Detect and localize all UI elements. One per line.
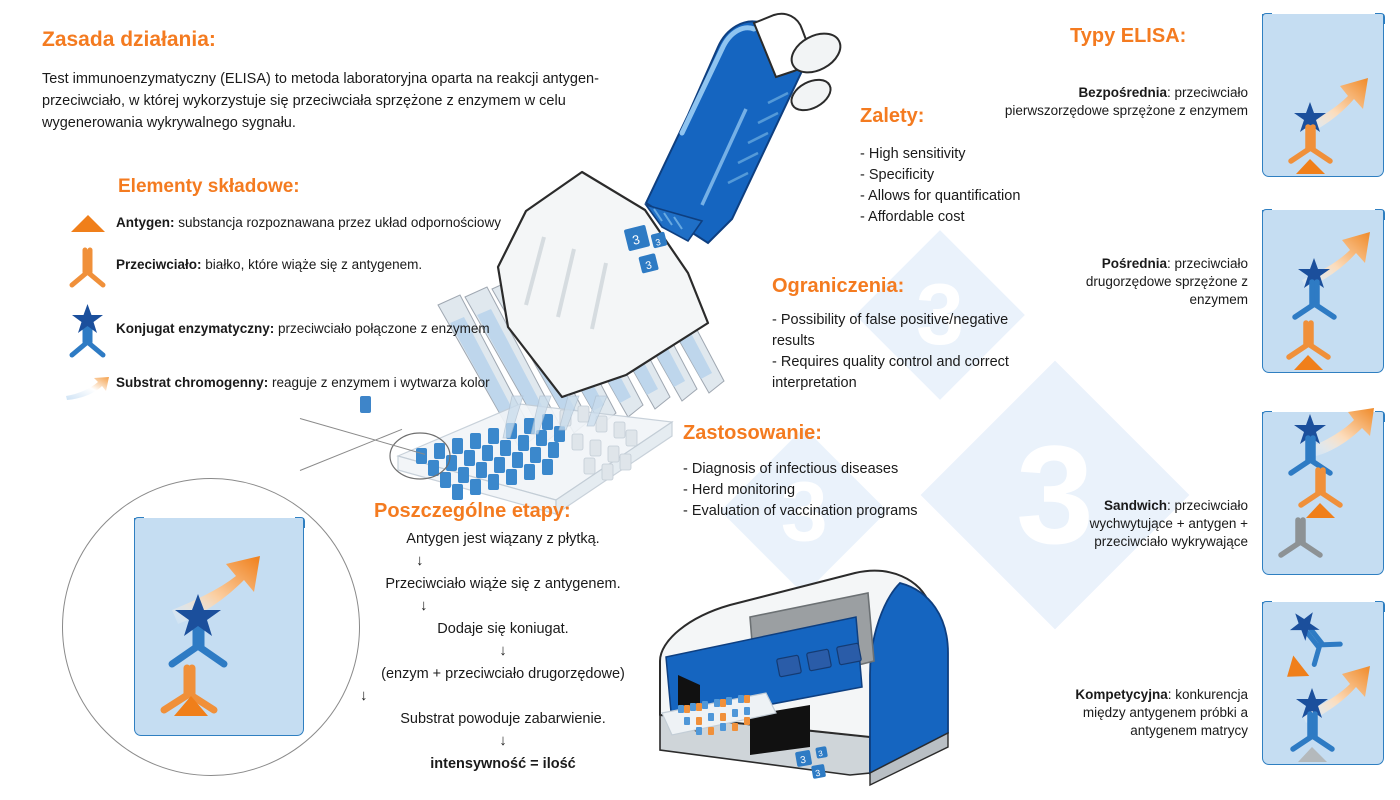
antigen-triangle [1279, 655, 1309, 687]
step-item: (enzym + przeciwciało drugorzędowe) [358, 665, 648, 684]
list-item: - Affordable cost [860, 207, 1090, 228]
components-heading: Elementy składowe: [118, 176, 510, 198]
type-direct-text: Bezpośrednia: przeciwciało pierwszorzędo… [1000, 84, 1248, 120]
list-item: Antygen: substancja rozpoznawana przez u… [60, 212, 510, 234]
panel-sandwich-elisa [1262, 412, 1384, 575]
chromogenic-substrate-icon [60, 374, 116, 402]
list-item-text: Konjugat enzymatyczny: przeciwciało połą… [116, 302, 490, 338]
list-item: - Allows for quantification [860, 186, 1090, 207]
type-sandwich-text: Sandwich: przeciwciało wychwytujące + an… [1080, 497, 1248, 551]
elisa-reader-illustration: 3 3 3 [600, 565, 1000, 795]
limitations-section: Ograniczenia: - Possibility of false pos… [772, 275, 1017, 394]
types-heading: Typy ELISA: [1070, 25, 1186, 48]
list-item: - Herd monitoring [683, 480, 1003, 501]
matrix-antigen-triangle [1298, 747, 1327, 762]
principle-heading: Zasada działania: [42, 28, 662, 52]
step-arrow-icon: ↓ [358, 734, 648, 748]
type-term: Kompetycyjna [1075, 687, 1167, 702]
list-item: - Specificity [860, 165, 1090, 186]
component-term: Substrat chromogenny: [116, 375, 268, 390]
limitations-heading: Ograniczenia: [772, 275, 1017, 298]
step-item: Przeciwciało wiąże się z antygenem. [358, 575, 648, 594]
advantages-list: - High sensitivity - Specificity - Allow… [860, 144, 1090, 228]
step-item: Substrat powoduje zabarwienie. [358, 710, 648, 729]
antigen-triangle [1306, 503, 1335, 518]
step-arrow-icon: ↓ [358, 599, 648, 613]
panel-competitive-elisa [1262, 602, 1384, 765]
list-item: - High sensitivity [860, 144, 1090, 165]
step-item: Antygen jest wiązany z płytką. [358, 530, 648, 549]
panel-direct-elisa [1262, 14, 1384, 177]
magnified-well-illustration [134, 518, 304, 736]
list-item: Przeciwciało: białko, które wiąże się z … [60, 244, 510, 290]
type-term: Pośrednia [1102, 256, 1167, 271]
types-section-title: Typy ELISA: [1070, 25, 1186, 48]
component-term: Antygen: [116, 215, 175, 230]
step-item-final: intensywność = ilość [358, 755, 648, 774]
applications-section: Zastosowanie: - Diagnosis of infectious … [683, 422, 1003, 522]
step-arrow-icon: ↓ [358, 554, 648, 568]
steps-heading: Poszczególne etapy: [374, 500, 648, 523]
steps-section: Poszczególne etapy: Antygen jest wiązany… [358, 500, 648, 774]
type-competitive-text: Kompetycyjna: konkurencja między antygen… [1060, 686, 1248, 740]
list-item: - Possibility of false positive/negative… [772, 310, 1017, 352]
advantages-section: Zalety: - High sensitivity - Specificity… [860, 105, 1090, 228]
antigen-triangle-icon [60, 212, 116, 234]
antibody-orange-icon [60, 244, 116, 290]
principle-text: Test immunoenzymatyczny (ELISA) to metod… [42, 68, 662, 134]
principle-section: Zasada działania: Test immunoenzymatyczn… [42, 28, 662, 134]
limitations-list: - Possibility of false positive/negative… [772, 310, 1017, 394]
component-term: Konjugat enzymatyczny: [116, 321, 274, 336]
type-term: Sandwich [1104, 498, 1167, 513]
components-section: Elementy składowe: Antygen: substancja r… [60, 176, 510, 402]
component-desc: białko, które wiąże się z antygenem. [202, 257, 423, 272]
list-item: Substrat chromogenny: reaguje z enzymem … [60, 374, 510, 402]
component-desc: przeciwciało połączone z enzymem [274, 321, 489, 336]
list-item: - Evaluation of vaccination programs [683, 501, 1003, 522]
list-item-text: Antygen: substancja rozpoznawana przez u… [116, 212, 501, 232]
enzyme-conjugate-icon [60, 302, 116, 360]
type-indirect-text: Pośrednia: przeciwciało drugorzędowe spr… [1060, 255, 1248, 309]
list-item: Konjugat enzymatyczny: przeciwciało połą… [60, 302, 510, 360]
step-arrow-icon: ↓ [358, 689, 648, 703]
component-desc: reaguje z enzymem i wytwarza kolor [268, 375, 489, 390]
step-arrow-icon: ↓ [358, 644, 648, 658]
type-term: Bezpośrednia [1078, 85, 1167, 100]
list-item: - Requires quality control and correct i… [772, 352, 1017, 394]
applications-list: - Diagnosis of infectious diseases - Her… [683, 459, 1003, 522]
step-item: Dodaje się koniugat. [358, 620, 648, 639]
list-item: - Diagnosis of infectious diseases [683, 459, 1003, 480]
antigen-triangle [1294, 355, 1323, 370]
applications-heading: Zastosowanie: [683, 422, 1003, 445]
list-item-text: Przeciwciało: białko, które wiąże się z … [116, 244, 422, 274]
list-item-text: Substrat chromogenny: reaguje z enzymem … [116, 374, 490, 392]
component-term: Przeciwciało: [116, 257, 202, 272]
component-desc: substancja rozpoznawana przez układ odpo… [175, 215, 501, 230]
infographic-canvas: 3 3 3 [0, 0, 1400, 800]
antigen-triangle [1296, 159, 1325, 174]
panel-indirect-elisa [1262, 210, 1384, 373]
